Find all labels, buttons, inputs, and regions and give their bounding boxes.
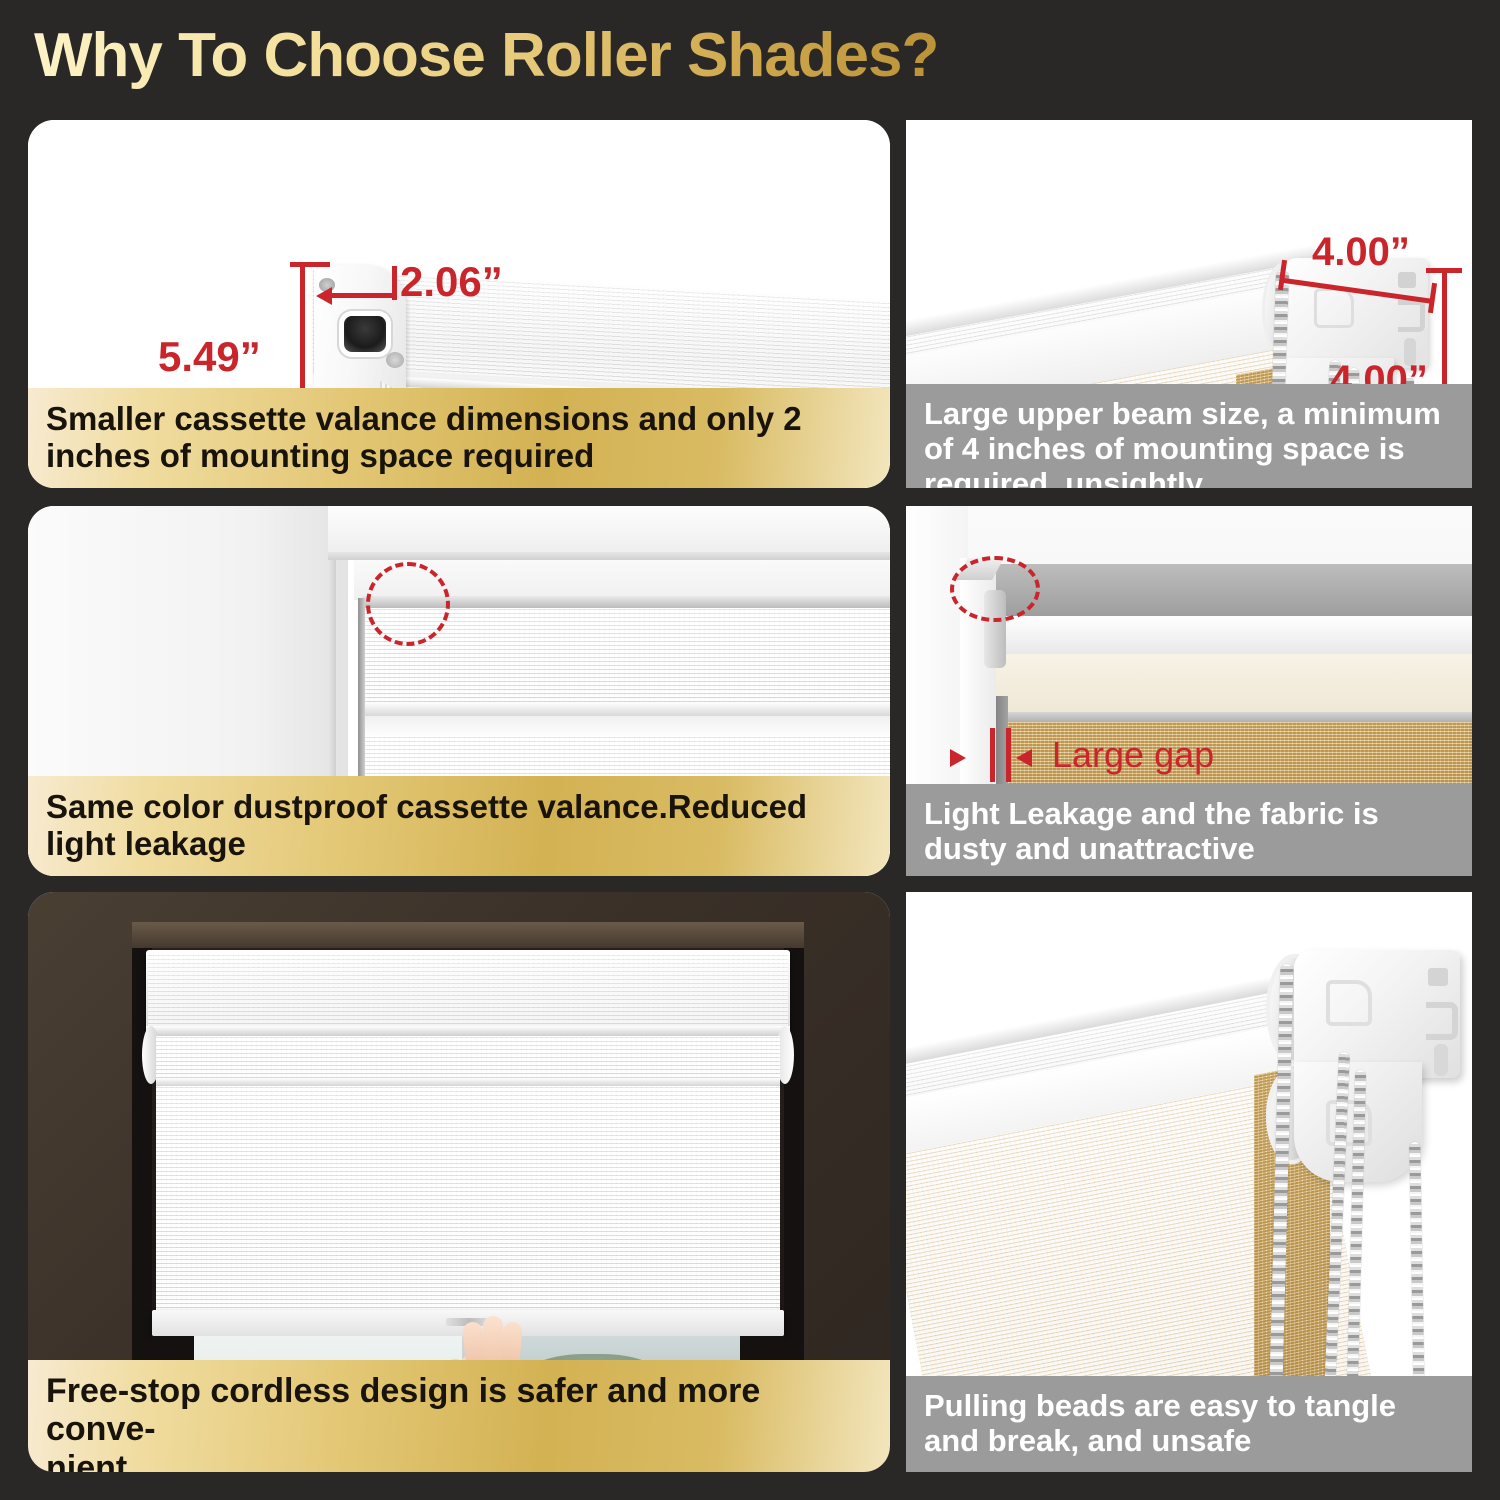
highlight-circle [366, 562, 450, 646]
beam-width-label: 4.00” [1312, 230, 1410, 275]
height-dimension-tick-top [290, 262, 330, 267]
panel-upper-beam-size: 4.00” 4.00” Large upper beam size, a min… [906, 120, 1472, 488]
gap-tick-left [990, 728, 995, 782]
width-dimension-tick [392, 266, 397, 300]
caption-light-leakage: Light Leakage and the fabric is dusty an… [906, 784, 1472, 876]
width-dimension-line [324, 293, 394, 298]
gap-arrow-right [1016, 749, 1032, 767]
panel-cassette-dimensions: 2.06” 5.49” Smaller cassette valance dim… [28, 120, 890, 488]
gap-tick-right [1006, 728, 1011, 782]
caption-dustproof-valance: Same color dustproof cassette valance.Re… [28, 776, 890, 876]
panel-cordless-design: Free-stop cordless design is safer and m… [28, 892, 890, 1472]
caption-cassette-dimensions: Smaller cassette valance dimensions and … [28, 388, 890, 488]
infographic-root: Why To Choose Roller Shades? [0, 0, 1500, 1500]
height-dimension-label: 5.49” [158, 333, 261, 381]
caption-cordless-design: Free-stop cordless design is safer and m… [28, 1360, 890, 1472]
panel-light-leakage: Large gap Light Leakage and the fabric i… [906, 506, 1472, 876]
caption-upper-beam-size: Large upper beam size, a minimum of 4 in… [906, 384, 1472, 488]
caption-pulling-beads: Pulling beads are easy to tangle and bre… [906, 1376, 1472, 1472]
page-title: Why To Choose Roller Shades? [34, 20, 938, 91]
width-dimension-arrow-left [316, 287, 332, 305]
highlight-circle [950, 556, 1040, 622]
beam-height-tick-top [1426, 268, 1462, 273]
gap-arrow-left [950, 749, 966, 767]
gap-callout-label: Large gap [1052, 734, 1214, 776]
panel-pulling-beads: Pulling beads are easy to tangle and bre… [906, 892, 1472, 1472]
width-dimension-label: 2.06” [400, 258, 503, 306]
panel-dustproof-valance: smaller gap Same color dustproof cassett… [28, 506, 890, 876]
